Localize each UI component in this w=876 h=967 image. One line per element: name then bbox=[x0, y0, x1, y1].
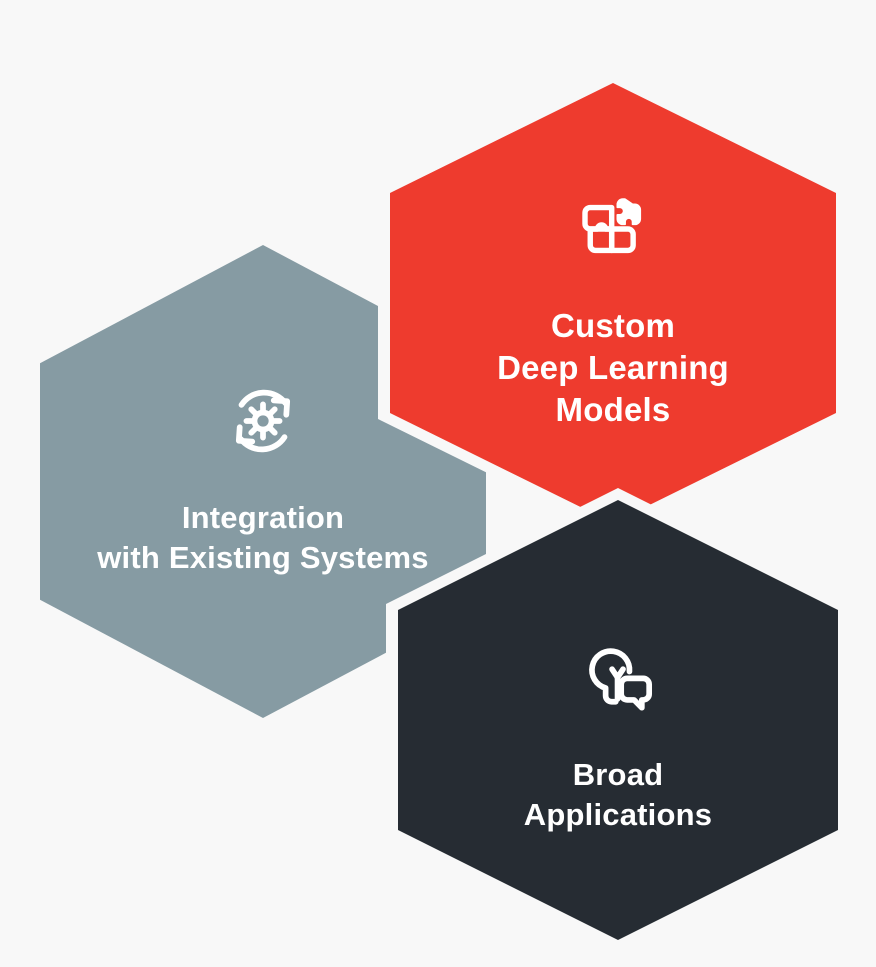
hexagon-shape-models bbox=[390, 83, 836, 523]
infographic-canvas: Integration with Existing Systems Custom… bbox=[0, 0, 876, 967]
hexagon-card-models[interactable]: Custom Deep Learning Models bbox=[390, 83, 836, 523]
hexagon-shape-applications bbox=[398, 500, 838, 940]
hexagon-card-applications[interactable]: Broad Applications bbox=[398, 500, 838, 940]
